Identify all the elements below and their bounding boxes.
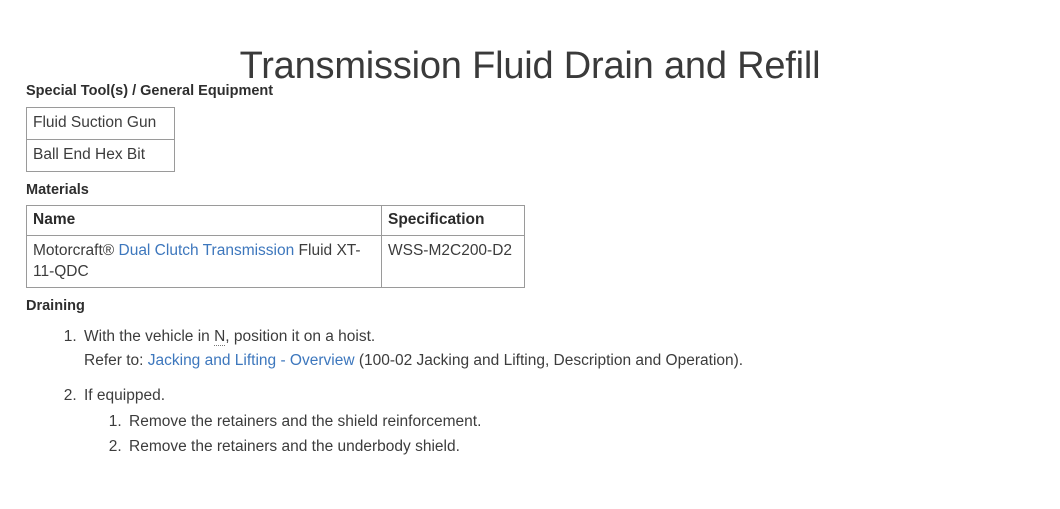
column-header-name: Name: [27, 206, 382, 236]
special-tools-table: Fluid Suction Gun Ball End Hex Bit: [26, 107, 175, 172]
table-row: Fluid Suction Gun: [27, 108, 175, 140]
material-specification-cell: WSS-M2C200-D2: [382, 236, 525, 288]
step-2-text: If equipped.: [84, 384, 1036, 408]
materials-table: Name Specification Motorcraft® Dual Clut…: [26, 205, 525, 288]
table-row: Motorcraft® Dual Clutch Transmission Flu…: [27, 236, 525, 288]
draining-substep-list: Remove the retainers and the shield rein…: [84, 409, 1036, 459]
dual-clutch-transmission-link[interactable]: Dual Clutch Transmission: [119, 242, 295, 259]
document-body: Special Tool(s) / General Equipment Flui…: [26, 82, 1036, 459]
table-row: Ball End Hex Bit: [27, 140, 175, 172]
special-tool-name: Fluid Suction Gun: [27, 108, 175, 140]
list-item: Remove the retainers and the shield rein…: [126, 409, 1036, 434]
material-name-cell: Motorcraft® Dual Clutch Transmission Flu…: [27, 236, 382, 288]
refer-to-reference: (100-02 Jacking and Lifting, Description…: [355, 352, 744, 369]
step-1-text-after: , position it on a hoist.: [225, 328, 375, 345]
list-item: With the vehicle in N, position it on a …: [81, 325, 1036, 373]
jacking-and-lifting-overview-link[interactable]: Jacking and Lifting - Overview: [148, 352, 355, 369]
list-item: If equipped. Remove the retainers and th…: [81, 384, 1036, 459]
neutral-abbreviation[interactable]: N: [214, 328, 225, 346]
step-1-refer-line: Refer to: Jacking and Lifting - Overview…: [84, 349, 1036, 373]
draining-heading: Draining: [26, 297, 1036, 315]
refer-to-label: Refer to:: [84, 352, 148, 369]
draining-step-list: With the vehicle in N, position it on a …: [26, 325, 1036, 459]
material-name-prefix: Motorcraft®: [33, 242, 119, 259]
step-1-text: With the vehicle in N, position it on a …: [84, 325, 1036, 349]
materials-heading: Materials: [26, 181, 1036, 199]
special-tool-name: Ball End Hex Bit: [27, 140, 175, 172]
special-tools-heading: Special Tool(s) / General Equipment: [26, 82, 1036, 100]
list-item: Remove the retainers and the underbody s…: [126, 434, 1036, 459]
step-1-text-before: With the vehicle in: [84, 328, 214, 345]
table-header-row: Name Specification: [27, 206, 525, 236]
column-header-specification: Specification: [382, 206, 525, 236]
